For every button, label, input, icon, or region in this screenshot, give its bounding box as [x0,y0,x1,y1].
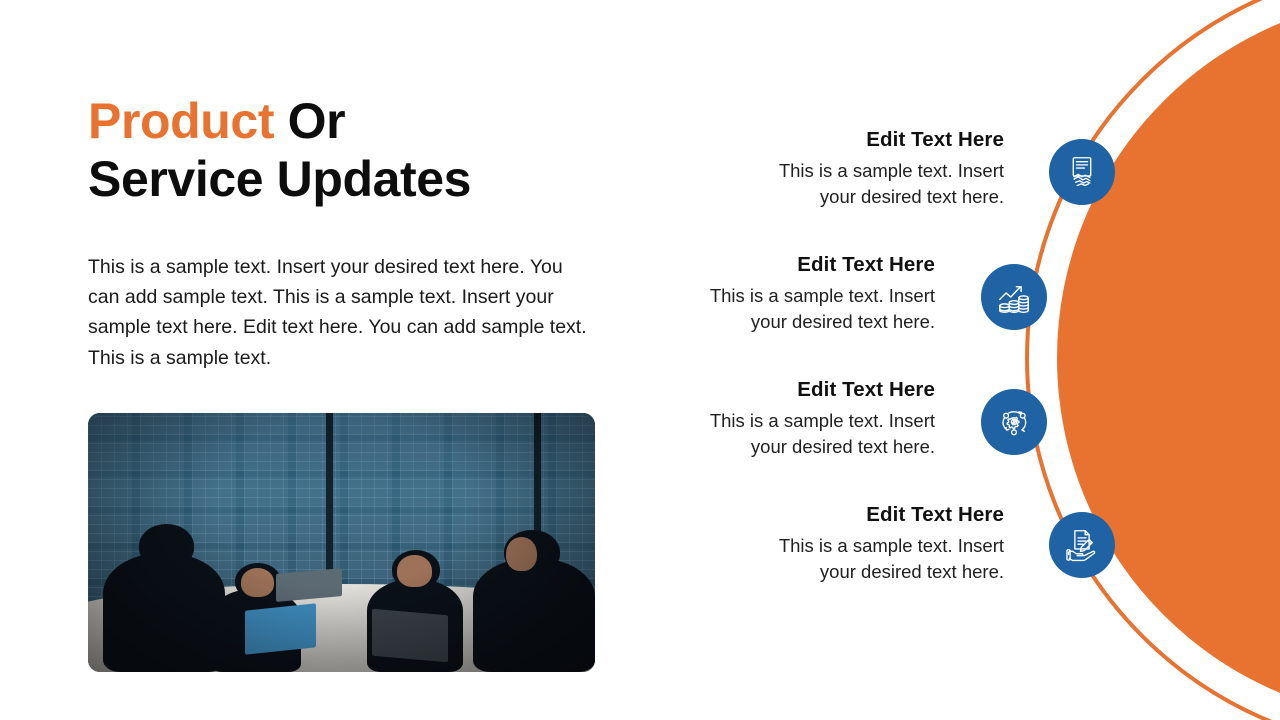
icon-badge-2[interactable] [981,264,1047,330]
intro-paragraph: This is a sample text. Insert your desir… [88,252,588,373]
list-item: Edit Text Here This is a sample text. In… [673,253,935,336]
icon-badge-3[interactable] [981,389,1047,455]
item-title: Edit Text Here [742,503,1004,527]
item-title: Edit Text Here [673,253,935,277]
item-title: Edit Text Here [673,378,935,402]
list-item: Edit Text Here This is a sample text. In… [742,503,1004,586]
item-body: This is a sample text. Insert your desir… [742,158,1004,211]
growth-coins-icon [995,278,1033,316]
list-item: Edit Text Here This is a sample text. In… [673,378,935,461]
item-body: This is a sample text. Insert your desir… [673,408,935,461]
icon-badge-1[interactable] [1049,139,1115,205]
page-title: Product Or Service Updates [88,92,608,208]
item-body: This is a sample text. Insert your desir… [673,283,935,336]
orange-outline-arc [1027,0,1280,720]
photo-vignette [88,413,595,672]
hand-signed-document-icon [1063,526,1101,564]
contract-handshake-icon [1063,153,1101,191]
icon-badge-4[interactable] [1049,512,1115,578]
item-body: This is a sample text. Insert your desir… [742,533,1004,586]
title-accent-word: Product [88,93,274,149]
title-second-line: Service Updates [88,151,471,207]
orange-filled-circle [1057,0,1280,720]
meeting-photo [88,413,595,672]
gear-money-network-icon [995,403,1033,441]
list-item: Edit Text Here This is a sample text. In… [742,128,1004,211]
slide-canvas: Product Or Service Updates This is a sam… [0,0,1280,720]
left-column: Product Or Service Updates This is a sam… [88,92,608,392]
item-title: Edit Text Here [742,128,1004,152]
title-rest-word: Or [274,93,345,149]
